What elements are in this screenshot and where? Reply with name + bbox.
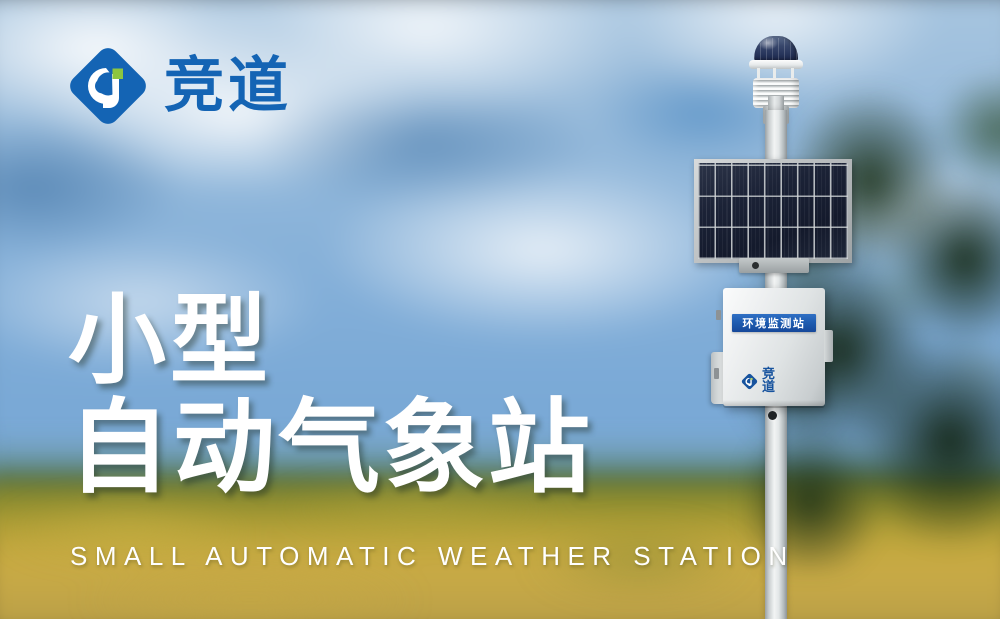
hero-title-line-2: 自动气象站	[68, 398, 593, 500]
hero-title: 小型 自动气象站	[68, 292, 593, 500]
control-box-banner: 环境监测站	[732, 314, 816, 332]
control-box-brand-name: 竞道	[762, 368, 776, 394]
solar-panel-cells	[698, 163, 848, 259]
hero-subtitle: SMALL AUTOMATIC WEATHER STATION	[70, 541, 795, 572]
solar-panel-bolt	[752, 262, 759, 269]
mast-bolt	[768, 411, 777, 420]
brand-name: 竞道	[164, 56, 292, 116]
sensor-dome-ribs	[754, 38, 798, 62]
weather-station-product-banner: 竞道 环境监测站	[0, 0, 1000, 619]
jingdao-diamond-logo-icon	[66, 44, 150, 128]
hero-title-line-1: 小型	[68, 292, 593, 390]
control-box-clip-lower	[714, 368, 719, 379]
brand-logo[interactable]: 竞道	[66, 44, 292, 128]
control-box-right-bracket	[824, 330, 833, 362]
solar-panel-icon	[694, 159, 852, 263]
control-box-brand-logo: 竞道	[741, 368, 776, 394]
control-box-banner-label: 环境监测站	[743, 318, 806, 329]
control-box-clip-upper	[716, 310, 721, 320]
jingdao-diamond-logo-icon	[741, 373, 758, 390]
control-box-bottom-shadow	[723, 400, 825, 408]
solar-panel-bracket	[739, 258, 809, 273]
